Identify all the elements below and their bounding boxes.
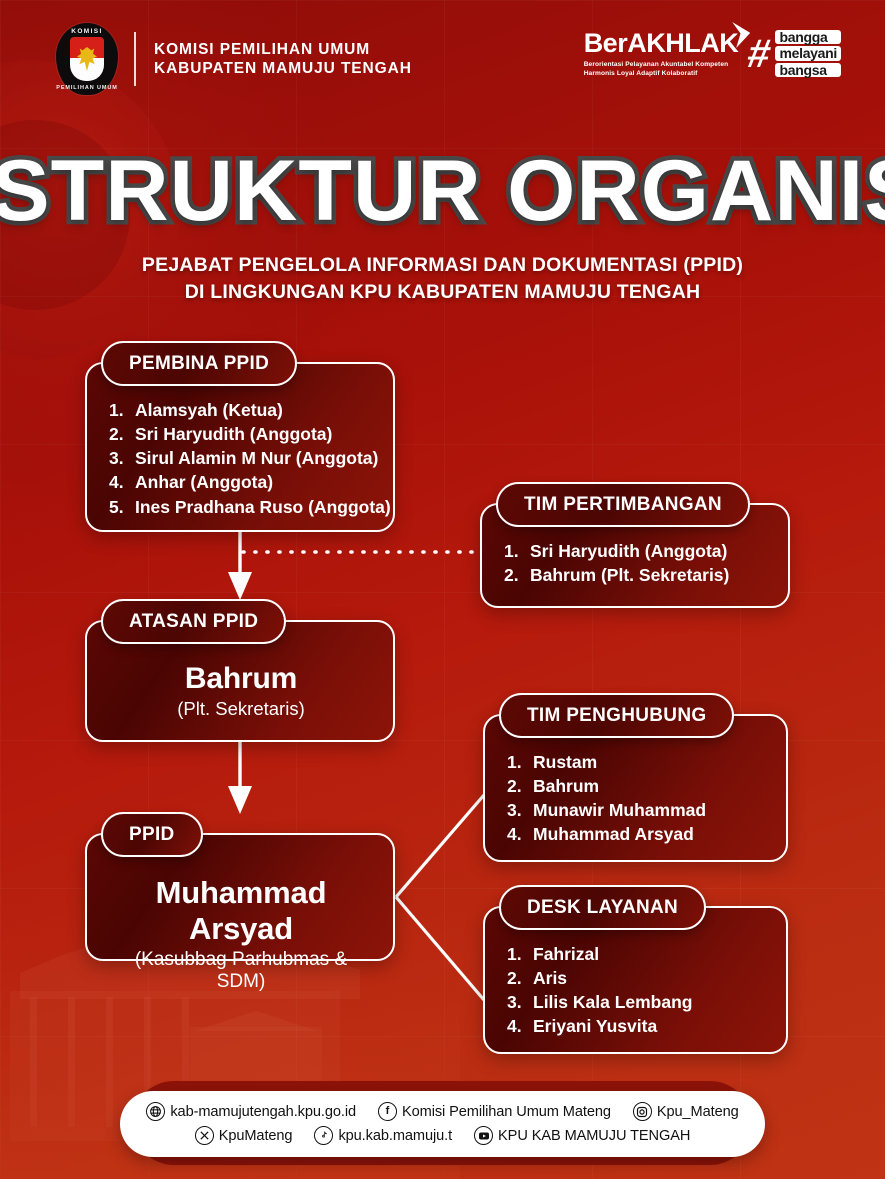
list-item: Muhammad Arsyad bbox=[507, 822, 766, 846]
contact-facebook-label: Komisi Pemilihan Umum Mateng bbox=[402, 1104, 611, 1120]
bangga-stack: bangga melayani bangsa bbox=[775, 30, 841, 79]
node-pembina-ppid-title: PEMBINA PPID bbox=[101, 341, 297, 386]
berakhlak-suffix: AKHLAK bbox=[627, 28, 738, 58]
node-desk-layanan-title: DESK LAYANAN bbox=[499, 885, 706, 930]
person-name: Bahrum bbox=[109, 662, 373, 696]
garuda-shield-icon bbox=[70, 37, 104, 81]
footer: kab-mamujutengah.kpu.go.id f Komisi Pemi… bbox=[0, 1091, 885, 1157]
berakhlak-wordmark: BerAKHLAK bbox=[584, 30, 739, 57]
list-item: Alamsyah (Ketua) bbox=[109, 398, 373, 422]
bangga-melayani-bangsa-logo: # bangga melayani bangsa bbox=[748, 30, 841, 79]
contact-facebook[interactable]: f Komisi Pemilihan Umum Mateng bbox=[378, 1102, 611, 1121]
list-item: Rustam bbox=[507, 750, 766, 774]
contact-row-2: KpuMateng kpu.kab.mamuju.t bbox=[146, 1126, 738, 1145]
node-tim-penghubung-title: TIM PENGHUBUNG bbox=[499, 693, 734, 738]
berakhlak-logo: BerAKHLAK Berorientasi Pelayanan Akuntab… bbox=[584, 30, 739, 79]
contact-instagram-label: Kpu_Mateng bbox=[657, 1104, 739, 1120]
list-item: Sri Haryudith (Anggota) bbox=[504, 539, 768, 563]
berakhlak-tagline: Berorientasi Pelayanan Akuntabel Kompete… bbox=[584, 61, 739, 79]
list-item: Ines Pradhana Ruso (Anggota) bbox=[109, 495, 373, 519]
node-pembina-ppid[interactable]: PEMBINA PPID Alamsyah (Ketua) Sri Haryud… bbox=[85, 362, 395, 532]
list-item: Bahrum bbox=[507, 774, 766, 798]
seal-bottom-text: PEMILIHAN UMUM bbox=[56, 85, 118, 91]
kpu-seal-icon: KOMISI PEMILIHAN UMUM bbox=[56, 23, 118, 95]
org-line-1: KOMISI PEMILIHAN UMUM bbox=[154, 40, 412, 59]
node-ppid[interactable]: PPID Muhammad Arsyad (Kasubbag Parhubmas… bbox=[85, 833, 395, 961]
node-ppid-title: PPID bbox=[101, 812, 203, 857]
list-item: Anhar (Anggota) bbox=[109, 470, 373, 494]
tiktok-icon bbox=[314, 1126, 333, 1145]
list-item: Sri Haryudith (Anggota) bbox=[109, 422, 373, 446]
berakhlak-tagline-1: Berorientasi Pelayanan Akuntabel Kompete… bbox=[584, 61, 739, 70]
list-item: Fahrizal bbox=[507, 942, 766, 966]
person-role: (Plt. Sekretaris) bbox=[109, 698, 373, 720]
contact-row-1: kab-mamujutengah.kpu.go.id f Komisi Pemi… bbox=[146, 1102, 738, 1121]
contact-youtube-label: KPU KAB MAMUJU TENGAH bbox=[498, 1128, 690, 1144]
subtitle-line-2: DI LINGKUNGAN KPU KABUPATEN MAMUJU TENGA… bbox=[0, 279, 885, 306]
bangga-line-3: bangsa bbox=[775, 63, 841, 77]
contact-instagram[interactable]: Kpu_Mateng bbox=[633, 1102, 739, 1121]
subtitle-line-1: PEJABAT PENGELOLA INFORMASI DAN DOKUMENT… bbox=[0, 252, 885, 279]
brand-lockup: KOMISI PEMILIHAN UMUM KOMISI PEMILIHAN U… bbox=[56, 23, 412, 95]
youtube-icon bbox=[474, 1126, 493, 1145]
person-name: Muhammad Arsyad bbox=[109, 875, 373, 947]
node-atasan-ppid[interactable]: ATASAN PPID Bahrum (Plt. Sekretaris) bbox=[85, 620, 395, 742]
node-tim-penghubung[interactable]: TIM PENGHUBUNG Rustam Bahrum Munawir Muh… bbox=[483, 714, 788, 862]
contact-x-twitter[interactable]: KpuMateng bbox=[195, 1126, 293, 1145]
berakhlak-prefix: Ber bbox=[584, 28, 628, 58]
page-title: STRUKTUR ORGANISASI bbox=[0, 148, 885, 234]
hashtag-icon: # bbox=[745, 38, 773, 70]
berakhlak-tagline-2: Harmonis Loyal Adaptif Kolaboratif bbox=[584, 70, 739, 79]
list-item: Bahrum (Plt. Sekretaris) bbox=[504, 563, 768, 587]
contact-tiktok[interactable]: kpu.kab.mamuju.t bbox=[314, 1126, 452, 1145]
person-role: (Kasubbag Parhubmas & SDM) bbox=[109, 949, 373, 993]
node-tim-pertimbangan[interactable]: TIM PERTIMBANGAN Sri Haryudith (Anggota)… bbox=[480, 503, 790, 608]
poster-root: KOMISI PEMILIHAN UMUM KOMISI PEMILIHAN U… bbox=[0, 0, 885, 1179]
contact-tiktok-label: kpu.kab.mamuju.t bbox=[338, 1128, 452, 1144]
campaign-logos: BerAKHLAK Berorientasi Pelayanan Akuntab… bbox=[584, 30, 841, 79]
brand-divider bbox=[134, 32, 136, 86]
org-line-2: KABUPATEN MAMUJU TENGAH bbox=[154, 59, 412, 78]
page-header: KOMISI PEMILIHAN UMUM KOMISI PEMILIHAN U… bbox=[0, 0, 885, 118]
list-item: Aris bbox=[507, 966, 766, 990]
title-block: STRUKTUR ORGANISASI PEJABAT PENGELOLA IN… bbox=[0, 148, 885, 306]
contact-youtube[interactable]: KPU KAB MAMUJU TENGAH bbox=[474, 1126, 690, 1145]
list-item: Eriyani Yusvita bbox=[507, 1014, 766, 1038]
list-item: Munawir Muhammad bbox=[507, 798, 766, 822]
node-pembina-ppid-body: Alamsyah (Ketua) Sri Haryudith (Anggota)… bbox=[87, 364, 393, 535]
node-ppid-body: Muhammad Arsyad (Kasubbag Parhubmas & SD… bbox=[87, 835, 393, 1009]
globe-icon bbox=[146, 1102, 165, 1121]
organization-name: KOMISI PEMILIHAN UMUM KABUPATEN MAMUJU T… bbox=[154, 40, 412, 79]
node-tim-pertimbangan-title: TIM PERTIMBANGAN bbox=[496, 482, 750, 527]
contact-website-label: kab-mamujutengah.kpu.go.id bbox=[170, 1104, 356, 1120]
bangga-line-2: melayani bbox=[775, 46, 841, 60]
page-subtitle: PEJABAT PENGELOLA INFORMASI DAN DOKUMENT… bbox=[0, 252, 885, 306]
list-item: Sirul Alamin M Nur (Anggota) bbox=[109, 446, 373, 470]
node-atasan-ppid-title: ATASAN PPID bbox=[101, 599, 286, 644]
seal-top-text: KOMISI bbox=[56, 28, 118, 35]
instagram-icon bbox=[633, 1102, 652, 1121]
bangga-line-1: bangga bbox=[775, 30, 841, 44]
facebook-icon: f bbox=[378, 1102, 397, 1121]
node-desk-layanan[interactable]: DESK LAYANAN Fahrizal Aris Lilis Kala Le… bbox=[483, 906, 788, 1054]
x-twitter-icon bbox=[195, 1126, 214, 1145]
contact-website[interactable]: kab-mamujutengah.kpu.go.id bbox=[146, 1102, 356, 1121]
list-item: Lilis Kala Lembang bbox=[507, 990, 766, 1014]
contact-bar: kab-mamujutengah.kpu.go.id f Komisi Pemi… bbox=[120, 1091, 764, 1157]
contact-x-twitter-label: KpuMateng bbox=[219, 1128, 293, 1144]
